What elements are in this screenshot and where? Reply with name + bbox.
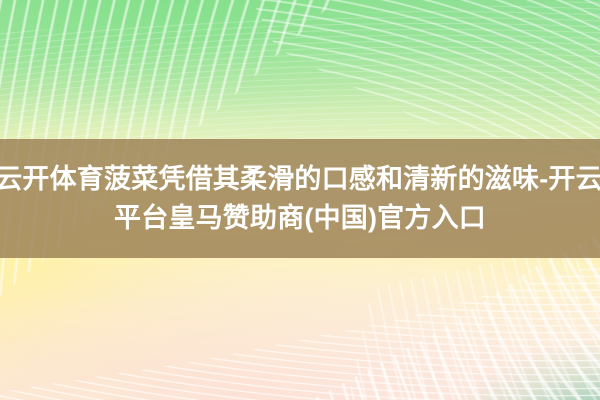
banner-title-line-1: 云开体育菠菜凭借其柔滑的口感和清新的滋味-开云 — [0, 160, 600, 198]
title-band: 云开体育菠菜凭借其柔滑的口感和清新的滋味-开云 平台皇马赞助商(中国)官方入口 — [0, 139, 600, 258]
promo-banner: 云开体育菠菜凭借其柔滑的口感和清新的滋味-开云 平台皇马赞助商(中国)官方入口 — [0, 0, 600, 400]
banner-title-line-2: 平台皇马赞助商(中国)官方入口 — [114, 199, 486, 237]
